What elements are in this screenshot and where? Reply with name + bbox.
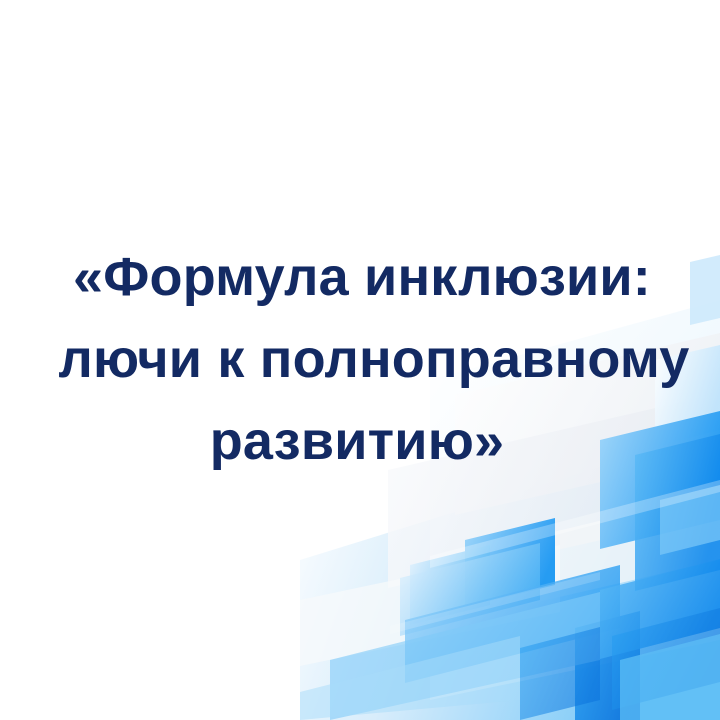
shape-center-left-bar xyxy=(410,545,490,625)
shape-center-accent xyxy=(520,627,600,720)
shape-center-upper-bar xyxy=(465,518,555,607)
title-line-3: развитию» xyxy=(0,400,720,482)
shape-left-band xyxy=(400,543,540,636)
shape-right-chevron-upper xyxy=(600,559,720,659)
shape-right-chevron-lower xyxy=(612,608,720,710)
title-line-2: лючи к полноправному xyxy=(28,318,720,400)
shape-center-vertical-block xyxy=(575,611,640,720)
shape-middle-band xyxy=(405,565,620,683)
title-slide: «Формула инклюзии: лючи к полноправному … xyxy=(0,0,720,720)
highlight-seams xyxy=(390,480,720,634)
shape-bottom-left-band xyxy=(300,636,520,720)
shape-lower-right-fill xyxy=(620,634,720,720)
slide-title: «Формула инклюзии: лючи к полноправному … xyxy=(0,236,720,482)
title-line-1: «Формула инклюзии: xyxy=(4,236,720,318)
shape-top-pale-wedge xyxy=(660,485,720,555)
shape-bottom-wide-band xyxy=(330,592,600,720)
